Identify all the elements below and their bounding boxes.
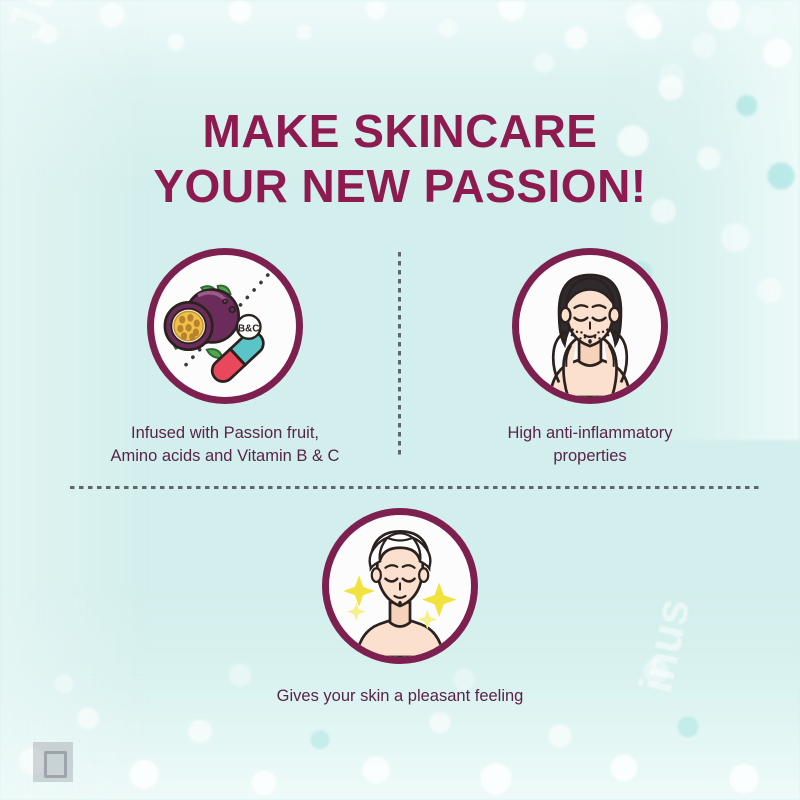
woman-with-towel-sparkles-icon: [322, 508, 478, 664]
benefit-item-anti-inflammatory: High anti-inflammatory properties: [430, 248, 750, 468]
horizontal-dotted-divider: [70, 486, 760, 489]
background-ghost-text: Jusels: [0, 0, 109, 47]
benefit-item-ingredients: B&C Infused with Passion fruit, Amino ac…: [65, 248, 385, 468]
passion-fruit-and-vitamin-capsule-icon: B&C: [147, 248, 303, 404]
page-title: MAKE SKINCARE YOUR NEW PASSION!: [0, 104, 800, 214]
background-ghost-text-2: inus: [628, 594, 700, 698]
vertical-dotted-divider: [398, 252, 401, 457]
woman-touching-cheeks-icon: [512, 248, 668, 404]
benefit-item-pleasant-feeling: Gives your skin a pleasant feeling: [240, 508, 560, 708]
benefit-caption-ingredients: Infused with Passion fruit, Amino acids …: [111, 422, 340, 468]
headline-line-2: YOUR NEW PASSION!: [0, 159, 800, 214]
infographic-canvas: Jusels inus MAKE SKINCARE YOUR NEW PASSI…: [0, 0, 800, 800]
capsule-badge-label: B&C: [238, 323, 260, 334]
benefit-caption-pleasant-feeling: Gives your skin a pleasant feeling: [277, 685, 524, 708]
stock-watermark-chip: [33, 742, 73, 782]
headline-line-1: MAKE SKINCARE: [0, 104, 800, 159]
benefit-caption-anti-inflammatory: High anti-inflammatory properties: [507, 422, 672, 468]
